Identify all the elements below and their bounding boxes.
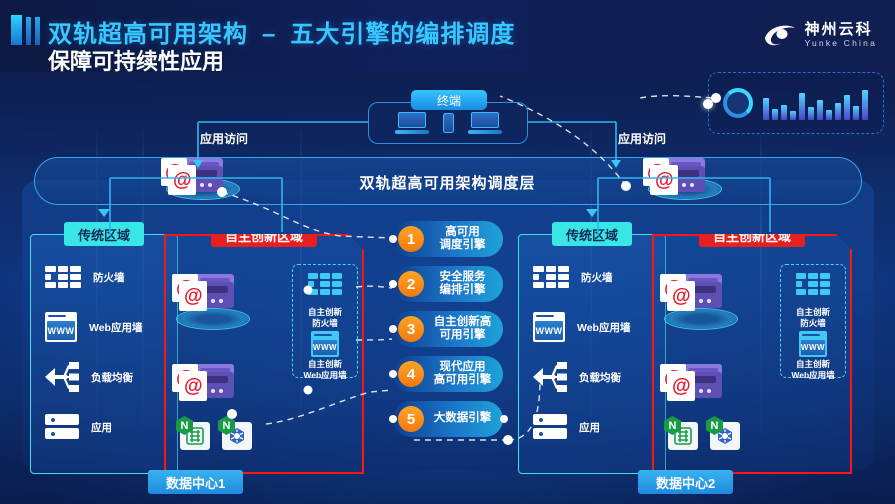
label-line2: Web应用墙 bbox=[293, 370, 357, 381]
app-access-label-right: 应用访问 bbox=[618, 130, 666, 147]
bar-chart-icon bbox=[763, 86, 868, 120]
innovation-webwall-label: 自主创新 Web应用墙 bbox=[781, 359, 845, 380]
www-text: WWW bbox=[47, 321, 75, 340]
innovation-webwall-label: 自主创新 Web应用墙 bbox=[293, 359, 357, 380]
engine-number: 3 bbox=[398, 316, 424, 342]
engine-pill-4[interactable]: 4 现代应用 高可用引擎 bbox=[393, 356, 503, 392]
www-text: WWW bbox=[801, 340, 825, 355]
engine-label: 现代应用 高可用引擎 bbox=[424, 361, 503, 387]
item-label: 负载均衡 bbox=[91, 370, 133, 385]
nginx-loadbalancer-icon[interactable]: N bbox=[176, 416, 210, 450]
firewall-icon bbox=[308, 273, 342, 295]
engine-pill-5[interactable]: 5 大数据引擎 bbox=[393, 401, 503, 437]
laptop-icon bbox=[395, 112, 429, 134]
engine-number: 5 bbox=[398, 406, 424, 432]
label-line1: 自主创新 bbox=[293, 307, 357, 318]
label-line2: 防火墙 bbox=[293, 318, 357, 329]
server-stack-icon[interactable]: @ @ bbox=[660, 274, 722, 312]
logo-text-en: Yunke China bbox=[805, 38, 877, 48]
list-item[interactable]: WWW Web应用墙 bbox=[45, 311, 142, 343]
server-stack-icon: @ @ bbox=[161, 158, 223, 196]
engine-pill-3[interactable]: 3 自主创新高 可用引擎 bbox=[393, 311, 503, 347]
item-label: Web应用墙 bbox=[577, 320, 630, 335]
title-part-b: 五大引擎的编排调度 bbox=[290, 21, 515, 48]
list-item[interactable]: 负载均衡 bbox=[533, 361, 630, 393]
engine-label-line2: 调度引擎 bbox=[424, 239, 501, 252]
nginx-kubernetes-icon[interactable]: N bbox=[218, 416, 252, 450]
firewall-icon bbox=[796, 273, 830, 295]
list-item[interactable]: WWW Web应用墙 bbox=[533, 311, 630, 343]
traditional-zone-title-dc1: 传统区域 bbox=[64, 222, 144, 246]
traditional-zone-dc1[interactable]: 传统区域 防火墙 WWW Web应用墙 bbox=[30, 234, 178, 474]
label-line2: 防火墙 bbox=[781, 318, 845, 329]
application-icon bbox=[533, 414, 567, 440]
connector-node bbox=[389, 235, 397, 243]
engine-pill-1[interactable]: 1 高可用 调度引擎 bbox=[393, 221, 503, 257]
connector-node bbox=[389, 280, 397, 288]
list-item[interactable]: 负载均衡 bbox=[45, 361, 142, 393]
zone-arrow-icon bbox=[586, 209, 598, 217]
laptop-icon bbox=[468, 112, 502, 134]
slide-header: 双轨超高可用架构–五大引擎的编排调度 保障可持续性应用 神州云科 Yunke C… bbox=[0, 0, 895, 72]
datacenter-tag-1: 数据中心1 bbox=[148, 470, 243, 494]
item-label: 应用 bbox=[579, 420, 600, 435]
engine-pill-2[interactable]: 2 安全服务 编排引擎 bbox=[393, 266, 503, 302]
connector-node bbox=[389, 325, 397, 333]
traditional-items-dc2: 防火墙 WWW Web应用墙 bbox=[533, 261, 630, 443]
web-app-wall-icon: WWW bbox=[45, 312, 77, 342]
innovation-zone-dc2[interactable]: 自主创新区域 自主创新 防火墙 WWW 自主创新 Web应用墙 bbox=[652, 234, 852, 474]
page-title-line2: 保障可持续性应用 bbox=[48, 44, 224, 76]
traditional-zone-title-dc2: 传统区域 bbox=[552, 222, 632, 246]
connector-node bbox=[389, 370, 397, 378]
engine-label-line2: 可用引擎 bbox=[424, 329, 501, 342]
server-stack-icon[interactable]: @ @ bbox=[172, 274, 234, 312]
www-text: WWW bbox=[313, 340, 337, 355]
item-label: 防火墙 bbox=[581, 270, 613, 285]
slide-canvas: 双轨超高可用架构–五大引擎的编排调度 保障可持续性应用 神州云科 Yunke C… bbox=[0, 0, 895, 504]
engine-label-line2: 编排引擎 bbox=[424, 284, 501, 297]
connector-node bbox=[389, 415, 397, 423]
engine-number: 1 bbox=[398, 226, 424, 252]
engine-label-line1: 高可用 bbox=[424, 226, 501, 239]
donut-chart-icon bbox=[723, 88, 753, 118]
item-label: Web应用墙 bbox=[89, 320, 142, 335]
item-label: 负载均衡 bbox=[579, 370, 621, 385]
innovation-inner-box-dc2: 自主创新 防火墙 WWW 自主创新 Web应用墙 bbox=[780, 264, 846, 378]
connector-node bbox=[703, 99, 713, 109]
title-dash: – bbox=[248, 21, 290, 48]
engine-number: 4 bbox=[398, 361, 424, 387]
engine-label-line1: 安全服务 bbox=[424, 271, 501, 284]
connector-node bbox=[500, 415, 508, 423]
swirl-logo-icon bbox=[763, 22, 797, 48]
phone-icon bbox=[443, 113, 454, 133]
list-item[interactable]: 应用 bbox=[45, 411, 142, 443]
firewall-icon bbox=[533, 266, 569, 288]
innovation-firewall-label: 自主创新 防火墙 bbox=[293, 307, 357, 328]
engine-list: 1 高可用 调度引擎 2 安全服务 编排引擎 3 自主创新高 可用引擎 4 bbox=[393, 221, 503, 446]
label-line1: 自主创新 bbox=[781, 307, 845, 318]
app-access-label-left: 应用访问 bbox=[200, 130, 248, 147]
innovation-inner-box-dc1: 自主创新 防火墙 WWW 自主创新 Web应用墙 bbox=[292, 264, 358, 378]
load-balance-icon bbox=[45, 362, 79, 392]
load-balance-icon bbox=[533, 362, 567, 392]
application-icon bbox=[45, 414, 79, 440]
engine-label: 安全服务 编排引擎 bbox=[424, 271, 503, 297]
server-stack-icon[interactable]: @ @ bbox=[172, 364, 234, 402]
firewall-icon bbox=[45, 266, 81, 288]
web-app-wall-icon: WWW bbox=[311, 331, 339, 357]
scheduling-layer-title: 双轨超高可用架构调度层 bbox=[0, 172, 895, 193]
nginx-kubernetes-icon[interactable]: N bbox=[706, 416, 740, 450]
zone-arrow-icon bbox=[98, 209, 110, 217]
label-line2: Web应用墙 bbox=[781, 370, 845, 381]
server-stack-icon: @ @ bbox=[643, 158, 705, 196]
label-line1: 自主创新 bbox=[781, 359, 845, 370]
company-logo: 神州云科 Yunke China bbox=[763, 22, 877, 48]
engine-label: 自主创新高 可用引擎 bbox=[424, 316, 503, 342]
engine-label: 高可用 调度引擎 bbox=[424, 226, 503, 252]
engine-label-line1: 大数据引擎 bbox=[424, 412, 501, 425]
engine-label-line2: 高可用引擎 bbox=[424, 374, 501, 387]
metrics-dashboard-card bbox=[708, 72, 884, 134]
engine-number: 2 bbox=[398, 271, 424, 297]
web-app-wall-icon: WWW bbox=[799, 331, 827, 357]
www-text: WWW bbox=[535, 321, 563, 340]
datacenter-tag-2: 数据中心2 bbox=[638, 470, 733, 494]
web-app-wall-icon: WWW bbox=[533, 312, 565, 342]
engine-label-line1: 自主创新高 bbox=[424, 316, 501, 329]
engine-label: 大数据引擎 bbox=[424, 412, 503, 425]
item-label: 防火墙 bbox=[93, 270, 125, 285]
item-label: 应用 bbox=[91, 420, 112, 435]
list-item[interactable]: 防火墙 bbox=[45, 261, 142, 293]
innovation-firewall-label: 自主创新 防火墙 bbox=[781, 307, 845, 328]
list-item[interactable]: 应用 bbox=[533, 411, 630, 443]
logo-text-cn: 神州云科 bbox=[805, 22, 877, 38]
traditional-zone-dc2[interactable]: 传统区域 防火墙 WWW Web应用墙 bbox=[518, 234, 666, 474]
header-accent-bars bbox=[11, 15, 40, 45]
list-item[interactable]: 防火墙 bbox=[533, 261, 630, 293]
terminal-label: 终端 bbox=[411, 90, 487, 110]
nginx-loadbalancer-icon[interactable]: N bbox=[664, 416, 698, 450]
engine-label-line1: 现代应用 bbox=[424, 361, 501, 374]
label-line1: 自主创新 bbox=[293, 359, 357, 370]
server-stack-icon[interactable]: @ @ bbox=[660, 364, 722, 402]
traditional-items-dc1: 防火墙 WWW Web应用墙 bbox=[45, 261, 142, 443]
innovation-zone-dc1[interactable]: 自主创新区域 自主创新 防火墙 WWW 自主创新 Web应用墙 bbox=[164, 234, 364, 474]
